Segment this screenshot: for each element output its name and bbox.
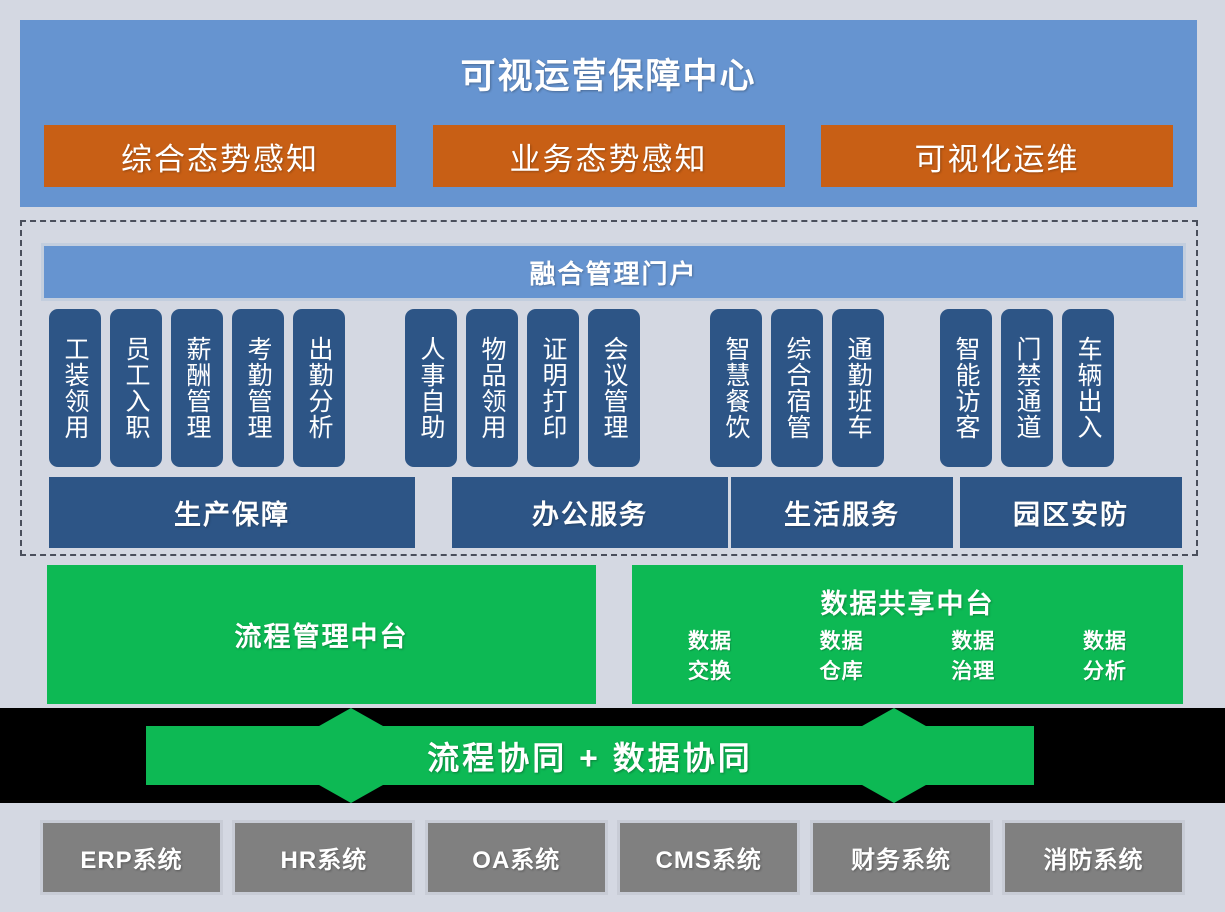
service-modules-row: 工装领用 员工入职 薪酬管理 考勤管理 出勤分析 人事自助 物品领用 (49, 309, 1182, 467)
service-box-certificate-print[interactable]: 证明打印 (527, 309, 579, 467)
category-bar-security[interactable]: 园区安防 (960, 477, 1182, 548)
system-box-oa[interactable]: OA系统 (425, 820, 608, 895)
service-label: 考勤管理 (244, 336, 272, 440)
service-box-access-control[interactable]: 门禁通道 (1001, 309, 1053, 467)
data-item-line1: 数据 (662, 627, 758, 657)
architecture-diagram: 可视运营保障中心 综合态势感知 业务态势感知 可视化运维 融合管理门户 工装领用… (0, 0, 1225, 912)
service-label: 通勤班车 (844, 336, 872, 440)
service-category-row: 生产保障 办公服务 生活服务 园区安防 (49, 477, 1182, 548)
data-item-line1: 数据 (925, 627, 1021, 657)
service-label: 会议管理 (600, 336, 628, 440)
category-bar-office[interactable]: 办公服务 (452, 477, 728, 548)
service-label: 综合宿管 (783, 336, 811, 440)
service-box-meeting-management[interactable]: 会议管理 (588, 309, 640, 467)
platform-title: 数据共享中台 (632, 582, 1183, 621)
data-platform-items: 数据 交换 数据 仓库 数据 治理 数据 分析 (662, 627, 1153, 689)
system-box-fire[interactable]: 消防系统 (1002, 820, 1185, 895)
data-item-exchange[interactable]: 数据 交换 (662, 627, 758, 688)
service-box-salary-management[interactable]: 薪酬管理 (171, 309, 223, 467)
service-box-attendance-management[interactable]: 考勤管理 (232, 309, 284, 467)
category-bar-living[interactable]: 生活服务 (731, 477, 953, 548)
system-box-finance[interactable]: 财务系统 (810, 820, 993, 895)
page-title: 可视运营保障中心 (20, 48, 1197, 99)
capability-box-situation-awareness[interactable]: 综合态势感知 (44, 125, 396, 187)
service-label: 门禁通道 (1013, 336, 1041, 440)
service-box-smart-visitor[interactable]: 智能访客 (940, 309, 992, 467)
service-label: 薪酬管理 (183, 336, 211, 440)
data-item-line1: 数据 (1057, 627, 1153, 657)
service-box-commuter-shuttle[interactable]: 通勤班车 (832, 309, 884, 467)
service-box-smart-dining[interactable]: 智慧餐饮 (710, 309, 762, 467)
data-item-line2: 仓库 (794, 657, 890, 687)
service-group-production: 工装领用 员工入职 薪酬管理 考勤管理 出勤分析 (49, 309, 345, 467)
data-item-line2: 交换 (662, 657, 758, 687)
service-box-vehicle-access[interactable]: 车辆出入 (1062, 309, 1114, 467)
data-item-governance[interactable]: 数据 治理 (925, 627, 1021, 688)
service-box-attendance-analysis[interactable]: 出勤分析 (293, 309, 345, 467)
data-item-line1: 数据 (794, 627, 890, 657)
top-capability-boxes: 综合态势感知 业务态势感知 可视化运维 (44, 125, 1173, 187)
service-box-hr-self-service[interactable]: 人事自助 (405, 309, 457, 467)
service-label: 证明打印 (539, 336, 567, 440)
system-box-erp[interactable]: ERP系统 (40, 820, 223, 895)
service-box-supplies-issue[interactable]: 物品领用 (466, 309, 518, 467)
category-bar-production[interactable]: 生产保障 (49, 477, 415, 548)
service-label: 员工入职 (122, 336, 150, 440)
service-box-uniform-issue[interactable]: 工装领用 (49, 309, 101, 467)
data-item-line2: 分析 (1057, 657, 1153, 687)
data-item-warehouse[interactable]: 数据 仓库 (794, 627, 890, 688)
data-sharing-platform[interactable]: 数据共享中台 数据 交换 数据 仓库 数据 治理 数据 分析 (632, 565, 1183, 704)
platform-title: 流程管理中台 (235, 615, 409, 654)
service-group-security: 智能访客 门禁通道 车辆出入 (940, 309, 1114, 467)
service-label: 智慧餐饮 (722, 336, 750, 440)
system-box-cms[interactable]: CMS系统 (617, 820, 800, 895)
service-box-dormitory-management[interactable]: 综合宿管 (771, 309, 823, 467)
service-label: 物品领用 (478, 336, 506, 440)
system-box-hr[interactable]: HR系统 (232, 820, 415, 895)
collaboration-banner[interactable]: 流程协同 + 数据协同 (146, 726, 1034, 785)
external-systems-row: ERP系统 HR系统 OA系统 CMS系统 财务系统 消防系统 (40, 820, 1185, 895)
unified-management-portal-bar[interactable]: 融合管理门户 (41, 243, 1186, 301)
data-item-analysis[interactable]: 数据 分析 (1057, 627, 1153, 688)
visual-operations-center-panel: 可视运营保障中心 综合态势感知 业务态势感知 可视化运维 (20, 20, 1197, 207)
service-label: 出勤分析 (305, 336, 333, 440)
capability-box-visual-ops[interactable]: 可视化运维 (821, 125, 1173, 187)
service-group-office: 人事自助 物品领用 证明打印 会议管理 (405, 309, 640, 467)
service-label: 车辆出入 (1074, 336, 1102, 440)
service-label: 人事自助 (417, 336, 445, 440)
collaboration-band: 流程协同 + 数据协同 (0, 708, 1225, 803)
service-group-living: 智慧餐饮 综合宿管 通勤班车 (710, 309, 884, 467)
service-box-employee-onboarding[interactable]: 员工入职 (110, 309, 162, 467)
service-label: 智能访客 (952, 336, 980, 440)
process-management-platform[interactable]: 流程管理中台 (47, 565, 596, 704)
data-item-line2: 治理 (925, 657, 1021, 687)
capability-box-business-awareness[interactable]: 业务态势感知 (433, 125, 785, 187)
service-label: 工装领用 (61, 336, 89, 440)
